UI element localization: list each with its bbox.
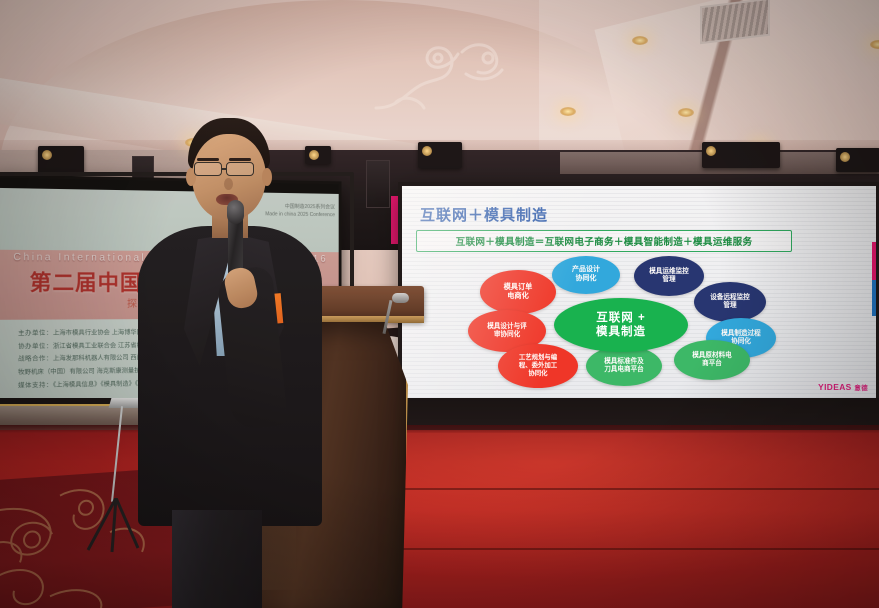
bubble-label-line: 模具原材料电 bbox=[692, 352, 732, 360]
speaker-eyebrow-left bbox=[197, 158, 219, 161]
speaker-nose bbox=[224, 178, 233, 190]
podium-mic-head-icon bbox=[392, 293, 409, 303]
diagram-bubble: 模具运维监控管理 bbox=[634, 256, 704, 296]
bubble-label-line: 模具制造过程 bbox=[721, 330, 761, 338]
bubble-label-line: 模具标准件及 bbox=[604, 358, 644, 366]
ceiling-downlight bbox=[678, 108, 694, 117]
bubble-label-line: 互联网 + bbox=[596, 311, 646, 325]
diagram-bubble: 工艺规划与编程、委外加工协同化 bbox=[498, 344, 578, 388]
center-bubble: 互联网 +模具制造 bbox=[554, 298, 688, 352]
stage-light-fixture bbox=[38, 146, 84, 174]
light-lens-icon bbox=[706, 146, 716, 156]
right-led-screen: 互联网＋模具制造 互联网＋模具制造＝互联网电子商务＋模具智能制造＋模具运维服务 … bbox=[402, 186, 878, 398]
light-lens-icon bbox=[42, 150, 52, 160]
bubble-label-line: 产品设计 bbox=[572, 266, 600, 275]
led-accent-tab-blue-right bbox=[872, 280, 879, 316]
diagram-bubble: 产品设计协同化 bbox=[552, 256, 620, 294]
speaker-person bbox=[128, 118, 338, 538]
organizer-label: 主办单位： bbox=[18, 330, 53, 337]
bubble-label-line: 程、委外加工 bbox=[519, 362, 557, 370]
bubble-label: 产品设计协同化 bbox=[572, 266, 600, 283]
stage-light-fixture bbox=[702, 142, 780, 168]
bubble-label: 模具订单电商化 bbox=[504, 283, 533, 301]
screenshot-scene: 中国制造2025系列会议 Made in china 2025 Conferen… bbox=[0, 0, 879, 608]
logo-cn-text: 意德 bbox=[854, 385, 868, 392]
stage-light-fixture bbox=[418, 142, 462, 168]
yideas-logo: YIDEAS 意德 bbox=[818, 382, 868, 392]
slide-equation-box: 互联网＋模具制造＝互联网电子商务＋模具智能制造＋模具运维服务 bbox=[416, 230, 792, 252]
speaker-trousers bbox=[172, 510, 262, 608]
speaker-eyebrow-right bbox=[229, 158, 251, 161]
bubble-label: 互联网 +模具制造 bbox=[596, 311, 646, 339]
bubble-label-line: 管理 bbox=[710, 302, 750, 310]
diagram-bubble: 模具原材料电商平台 bbox=[674, 340, 750, 380]
bubble-label-line: 协同化 bbox=[519, 370, 557, 378]
bubble-label-line: 模具制造 bbox=[596, 325, 646, 339]
speaker-glasses-right-lens bbox=[226, 162, 254, 176]
stage-light-fixture bbox=[836, 148, 879, 172]
bubble-label: 模具标准件及刀具电商平台 bbox=[604, 358, 644, 374]
bubble-label-line: 模具运维监控 bbox=[649, 268, 689, 276]
bubble-label-line: 协同化 bbox=[572, 275, 600, 284]
diagram-bubble: 模具订单电商化 bbox=[480, 270, 556, 314]
speaker-glasses-left-lens bbox=[194, 162, 222, 176]
bubble-label: 模具设计与评审协同化 bbox=[487, 323, 527, 339]
bubble-label-line: 电商化 bbox=[504, 292, 533, 301]
bubble-label-line: 审协同化 bbox=[487, 331, 527, 339]
bubble-label-line: 刀具电商平台 bbox=[604, 366, 644, 374]
microphone-grille-icon bbox=[227, 200, 244, 224]
led-accent-tab-pink-right bbox=[872, 242, 879, 280]
plaster-ornament-icon bbox=[366, 30, 536, 120]
organizer-label: 媒体支持： bbox=[18, 382, 53, 390]
bubble-label: 设备远程监控管理 bbox=[710, 294, 750, 310]
ceiling-downlight bbox=[632, 36, 648, 45]
bubble-label: 模具运维监控管理 bbox=[649, 268, 689, 284]
ceiling-downlight bbox=[870, 40, 879, 49]
bubble-label-line: 工艺规划与编 bbox=[519, 354, 557, 362]
pa-speaker-box-2 bbox=[366, 160, 390, 208]
slide-equation-text: 互联网＋模具制造＝互联网电子商务＋模具智能制造＋模具运维服务 bbox=[456, 234, 753, 248]
organizer-label: 协办单位： bbox=[18, 343, 53, 350]
bubble-label-line: 管理 bbox=[649, 276, 689, 284]
light-lens-icon bbox=[422, 146, 432, 156]
diagram-bubble: 模具标准件及刀具电商平台 bbox=[586, 346, 662, 386]
bubble-label-line: 模具设计与评 bbox=[487, 323, 527, 331]
diagram-bubble: 设备远程监控管理 bbox=[694, 282, 766, 322]
ceiling-downlight bbox=[560, 107, 576, 116]
logo-wordmark: YIDEAS bbox=[818, 382, 852, 392]
organizer-label: 战略合作： bbox=[18, 356, 53, 364]
speaker-ear-right bbox=[262, 168, 272, 186]
speaker-glasses-bridge bbox=[222, 168, 227, 170]
slide-title: 互联网＋模具制造 bbox=[420, 204, 548, 225]
light-lens-icon bbox=[840, 152, 850, 162]
bubble-label: 工艺规划与编程、委外加工协同化 bbox=[519, 354, 557, 377]
bubble-label: 模具原材料电商平台 bbox=[692, 352, 732, 368]
led-accent-tab-pink-left bbox=[391, 196, 401, 244]
bubble-label-line: 商平台 bbox=[692, 360, 732, 368]
bubble-label-line: 设备远程监控 bbox=[710, 294, 750, 302]
